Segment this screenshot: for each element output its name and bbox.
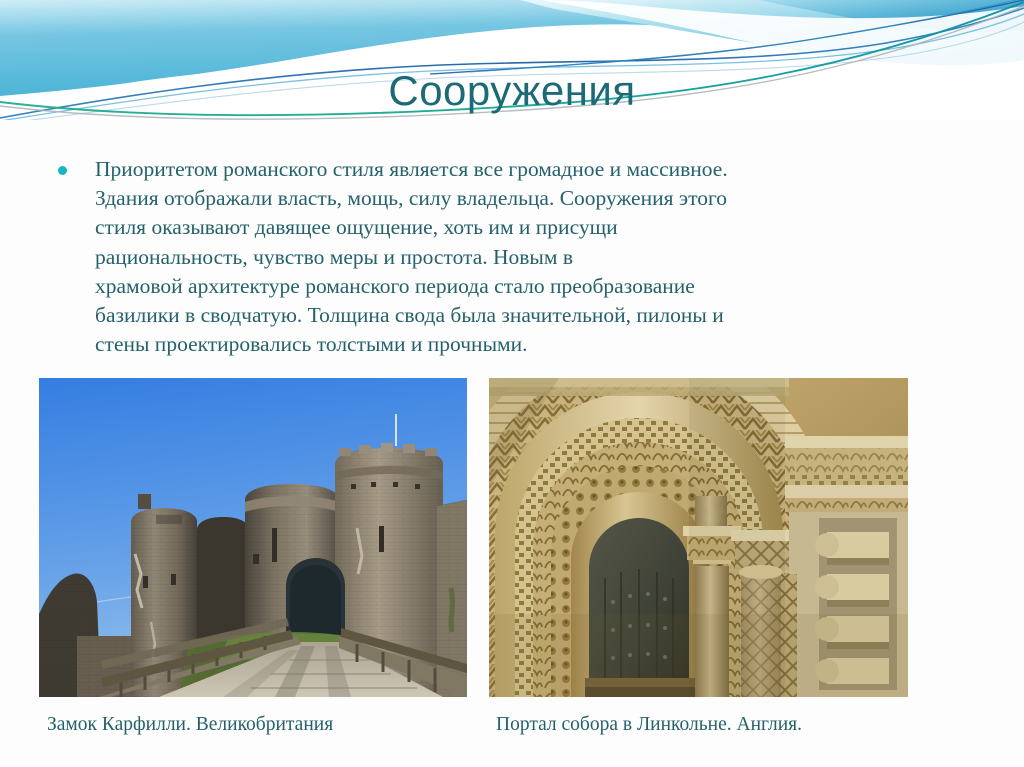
body-line: стены проектировались толстыми и прочным… — [95, 330, 948, 359]
body-line: Приоритетом романского стиля является вс… — [95, 155, 948, 184]
body-line: рациональность, чувство меры и простота.… — [95, 243, 948, 272]
caption-left: Замок Карфилли. Великобритания — [47, 714, 333, 736]
presentation-slide: Сооружения Приоритетом романского стиля … — [0, 0, 1024, 767]
body-paragraph: Приоритетом романского стиля является вс… — [95, 155, 948, 359]
bullet-dot-icon — [58, 166, 67, 175]
body-line: храмовой архитектуре романского периода … — [95, 272, 948, 301]
body-line: базилики в сводчатую. Толщина свода была… — [95, 301, 948, 330]
page-title: Сооружения — [0, 68, 1024, 114]
body-line: стиля оказывают давящее ощущение, хоть и… — [95, 213, 948, 242]
caption-right: Портал собора в Линкольне. Англия. — [496, 714, 802, 736]
lincoln-cathedral-portal-photo — [489, 378, 908, 697]
content-bullet-block: Приоритетом романского стиля является вс… — [58, 155, 948, 359]
caerphilly-castle-photo — [39, 378, 467, 697]
body-line: Здания отображали власть, мощь, силу вла… — [95, 184, 948, 213]
